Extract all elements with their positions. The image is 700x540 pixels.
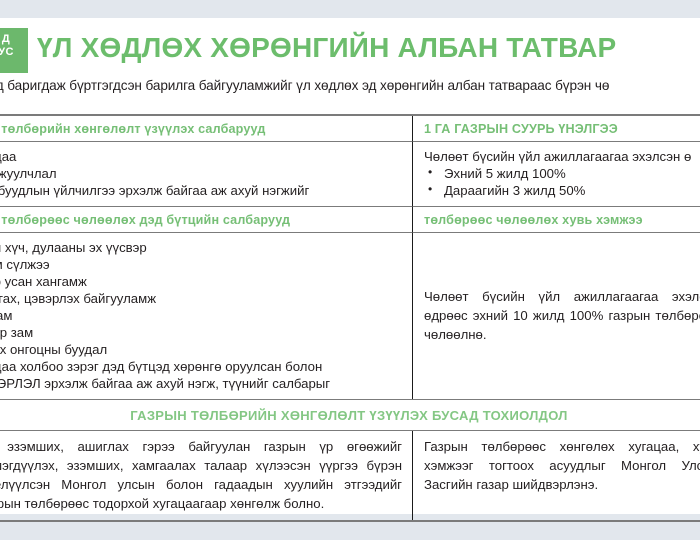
cell-exempt-infrastructure-list: ким хүч, дулааны эх үүсвэр аам сүлжээ өө… xyxy=(0,233,412,399)
column-header-benefit-sectors: ын төлбөрийн хөнгөлөлт үзүүлэх салбарууд xyxy=(0,116,412,142)
slide-frame: Д УС ҮЛ ХӨДЛӨХ ХӨРӨНГИЙН АЛБАН ТАТВАР бү… xyxy=(0,0,700,540)
table-row: ким хүч, дулааны эх үүсвэр аам сүлжээ өө… xyxy=(0,233,700,399)
list-item: ид буудлын үйлчилгээ эрхэлж байгаа аж ах… xyxy=(0,182,402,199)
list-item: о зам xyxy=(0,307,402,324)
table-section-band: ГАЗРЫН ТӨЛБӨРИЙН ХӨНГӨЛӨЛТ ҮЗҮҮЛЭХ БУСАД… xyxy=(0,399,700,431)
table-header-row-1: ын төлбөрийн хөнгөлөлт үзүүлэх салбарууд… xyxy=(0,116,700,142)
tax-table: ын төлбөрийн хөнгөлөлт үзүүлэх салбарууд… xyxy=(0,114,700,522)
table-row: алдаа ал жуулчлал ид буудлын үйлчилгээ э… xyxy=(0,142,700,206)
list-item: уутгах, цэвэрлэх байгууламж xyxy=(0,290,402,307)
benefit-sectors-list: алдаа ал жуулчлал ид буудлын үйлчилгээ э… xyxy=(0,148,402,199)
column-header-base-valuation: 1 ГА ГАЗРЫН СУУРЬ ҮНЭЛГЭЭ xyxy=(412,116,700,142)
slide-canvas: Д УС ҮЛ ХӨДЛӨХ ХӨРӨНГИЙН АЛБАН ТАТВАР бү… xyxy=(0,18,700,514)
column-header-exempt-infrastructure: ын төлбөрөөс чөлөөлөх дэд бүтцийн салбар… xyxy=(0,206,412,233)
page-subtitle: бүсэд баригдаж бүртгэгдсэн барилга байгу… xyxy=(0,78,700,93)
exemption-rate-paragraph: Чөлөөт бүсийн үйл ажиллагаагаа эхэлсэн ө… xyxy=(424,287,700,344)
list-item: ким хүч, дулааны эх үүсвэр xyxy=(0,239,402,256)
other-cases-right-paragraph: Газрын төлбөрөөс хөнгөлөх хугацаа, хувь … xyxy=(424,437,700,494)
list-item: аам сүлжээ xyxy=(0,256,402,273)
base-valuation-bullets: Эхний 5 жилд 100% Дараагийн 3 жилд 50% xyxy=(424,165,700,199)
list-item: алдаа xyxy=(0,148,402,165)
table-header-row-2: ын төлбөрөөс чөлөөлөх дэд бүтцийн салбар… xyxy=(0,206,700,233)
column-header-exemption-rate: төлбөрөөс чөлөөлөх хувь хэмжээ xyxy=(412,206,700,233)
list-item: төөр зам xyxy=(0,324,402,341)
brand-logo-badge: Д УС xyxy=(0,28,28,73)
table-row: ар эзэмших, ашиглах гэрээ байгуулан газр… xyxy=(0,431,700,520)
cell-benefit-sectors-list: алдаа ал жуулчлал ид буудлын үйлчилгээ э… xyxy=(0,142,412,206)
other-cases-left-paragraph: ар эзэмших, ашиглах гэрээ байгуулан газр… xyxy=(0,437,402,513)
list-item: Эхний 5 жилд 100% xyxy=(424,165,700,182)
brand-logo-line1: Д xyxy=(0,33,28,46)
list-item: исэх онгоцны буудал xyxy=(0,341,402,358)
title-block: Д УС ҮЛ ХӨДЛӨХ ХӨРӨНГИЙН АЛБАН ТАТВАР бү… xyxy=(0,18,700,100)
list-item: ДВЭРЛЭЛ эрхэлж байгаа аж ахуй нэгж, түүн… xyxy=(0,375,402,392)
list-item: илцаа холбоо зэрэг дэд бүтцэд хөрөнгө ор… xyxy=(0,358,402,375)
cell-other-cases-left: ар эзэмших, ашиглах гэрээ байгуулан газр… xyxy=(0,431,412,520)
list-item: өөр усан хангамж xyxy=(0,273,402,290)
brand-logo-line2: УС xyxy=(0,46,28,59)
exempt-infrastructure-list: ким хүч, дулааны эх үүсвэр аам сүлжээ өө… xyxy=(0,239,402,392)
cell-exemption-rate-text: Чөлөөт бүсийн үйл ажиллагаагаа эхэлсэн ө… xyxy=(412,233,700,399)
cell-base-valuation-terms: Чөлөөт бүсийн үйл ажиллагаагаа эхэлсэн ө… xyxy=(412,142,700,206)
section-band-label: ГАЗРЫН ТӨЛБӨРИЙН ХӨНГӨЛӨЛТ ҮЗҮҮЛЭХ БУСАД… xyxy=(0,400,700,430)
cell-other-cases-right: Газрын төлбөрөөс хөнгөлөх хугацаа, хувь … xyxy=(412,431,700,520)
list-item: Дараагийн 3 жилд 50% xyxy=(424,182,700,199)
list-item: ал жуулчлал xyxy=(0,165,402,182)
base-valuation-lead: Чөлөөт бүсийн үйл ажиллагаагаа эхэлсэн ө xyxy=(424,148,700,165)
page-title: ҮЛ ХӨДЛӨХ ХӨРӨНГИЙН АЛБАН ТАТВАР xyxy=(37,32,616,64)
